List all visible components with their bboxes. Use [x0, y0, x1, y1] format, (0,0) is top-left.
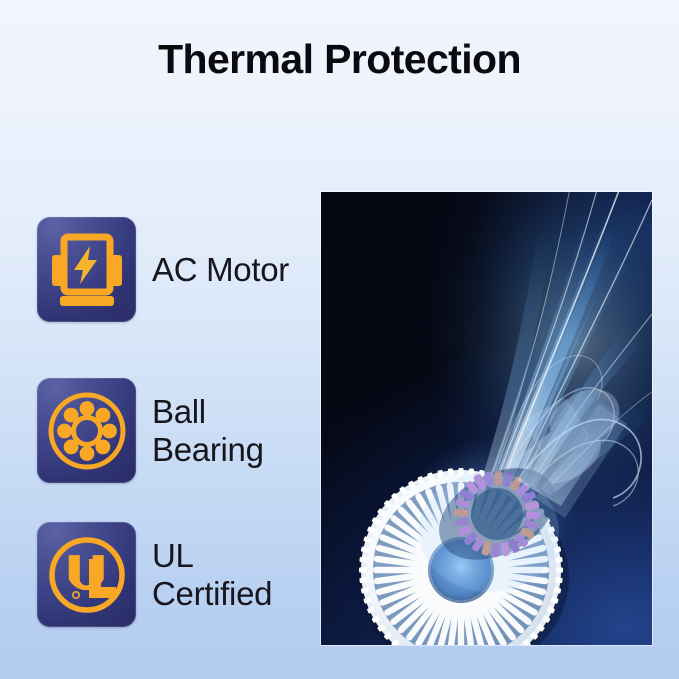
ball-bearing-icon [46, 390, 128, 472]
feature-icon-tile [37, 378, 136, 483]
feature-label-ul-certified: UL Certified [152, 537, 272, 613]
ac-motor-icon [48, 230, 126, 310]
product-photo [321, 192, 652, 645]
feature-icon-tile [37, 217, 136, 322]
feature-label-ball-bearing: Ball Bearing [152, 393, 264, 469]
ul-certified-icon [45, 533, 129, 617]
page-title: Thermal Protection [0, 36, 679, 83]
feature-label-ac-motor: AC Motor [152, 251, 289, 289]
promo-card: Thermal Protection [0, 0, 679, 679]
feature-item-ac-motor: AC Motor [37, 217, 289, 322]
feature-item-ball-bearing: Ball Bearing [37, 378, 264, 483]
feature-item-ul-certified: UL Certified [37, 522, 272, 627]
motor-rotor-graphic [321, 192, 652, 645]
feature-icon-tile [37, 522, 136, 627]
